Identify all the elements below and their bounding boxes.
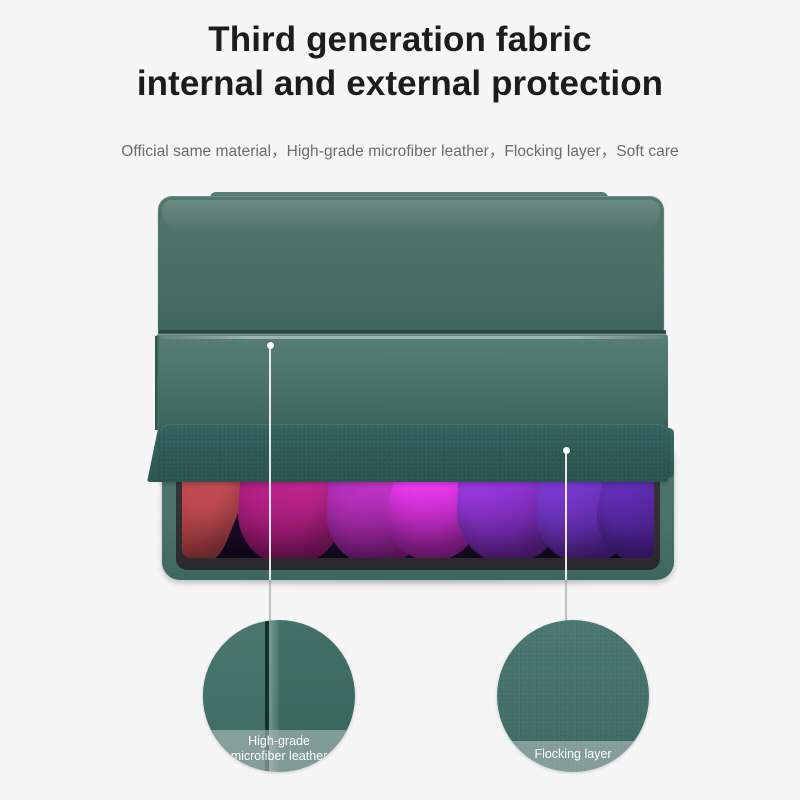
detail-circle-microfiber: High-grade microfiber leather [203, 620, 355, 772]
middle-fold-panel [156, 334, 668, 430]
microfiber-label-line-1: High-grade [203, 734, 355, 749]
leader-line-flocking [565, 450, 567, 580]
flocked-front-flap [160, 424, 668, 482]
product-stage: High-grade microfiber leather Flocking l… [0, 0, 800, 800]
middle-panel-sheen [160, 336, 664, 339]
leader-dot-microfiber [267, 342, 274, 349]
flocking-texture [160, 424, 668, 482]
detail-circle-label-microfiber: High-grade microfiber leather [203, 730, 355, 772]
leader-line-microfiber [269, 345, 271, 580]
back-cover-panel [158, 196, 664, 332]
detail-circle-label-flocking: Flocking layer [497, 741, 649, 772]
detail-circle-flocking: Flocking layer [497, 620, 649, 772]
middle-panel-left-edge [155, 336, 159, 430]
flocking-label-line-1: Flocking layer [497, 747, 649, 762]
leader-dot-flocking [563, 447, 570, 454]
microfiber-label-line-2: microfiber leather [203, 749, 355, 764]
